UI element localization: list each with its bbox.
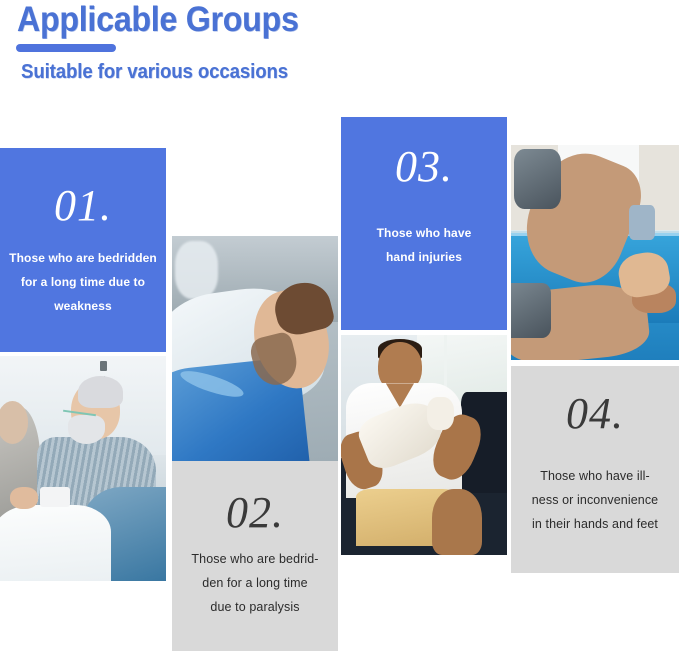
page-title: Applicable Groups xyxy=(17,1,299,39)
bed-blanket xyxy=(0,505,111,582)
card-03-number: 03. xyxy=(341,143,507,191)
patient-hair xyxy=(78,376,123,408)
denim-shorts-lower xyxy=(511,283,551,339)
card-03-panel: 03. Those who have hand injuries xyxy=(341,117,507,330)
iv-drip-icon xyxy=(100,361,107,371)
denim-shorts-upper xyxy=(514,149,561,209)
card-01-caption-line-1: Those who are bedridden xyxy=(0,246,166,270)
card-01-caption-line-2: for a long time due to xyxy=(0,270,166,294)
title-underline-rule xyxy=(16,44,116,52)
card-04-caption: Those who have ill- ness or inconvenienc… xyxy=(511,464,679,536)
card-03-photo xyxy=(341,335,507,555)
card-03-caption-line-2: hand injuries xyxy=(341,245,507,269)
card-01-caption-line-3: weakness xyxy=(0,294,166,318)
card-01-number: 01. xyxy=(0,182,166,230)
card-03-caption: Those who have hand injuries xyxy=(341,221,507,269)
card-03-caption-line-1: Those who have xyxy=(341,221,507,245)
knee xyxy=(432,489,482,555)
patient-beard xyxy=(68,415,105,444)
page-subtitle: Suitable for various occasions xyxy=(21,60,288,84)
card-04-photo xyxy=(511,145,679,360)
card-01-caption: Those who are bedridden for a long time … xyxy=(0,246,166,318)
card-02-caption-line-3: due to paralysis xyxy=(172,595,338,619)
bandaged-hand xyxy=(427,397,454,430)
card-02-caption-line-1: Those who are bedrid- xyxy=(172,547,338,571)
card-02-number: 02. xyxy=(172,489,338,537)
card-02-caption-line-2: den for a long time xyxy=(172,571,338,595)
card-02-panel: 02. Those who are bedrid- den for a long… xyxy=(172,461,338,651)
card-04-caption-line-3: in their hands and feet xyxy=(511,512,679,536)
card-02-caption: Those who are bedrid- den for a long tim… xyxy=(172,547,338,619)
card-04-caption-line-1: Those who have ill- xyxy=(511,464,679,488)
card-01-photo xyxy=(0,356,166,581)
card-02-photo xyxy=(172,236,338,461)
patient-hand xyxy=(10,487,38,510)
card-01-panel: 01. Those who are bedridden for a long t… xyxy=(0,148,166,352)
therapist-sleeve xyxy=(629,205,656,239)
card-04-number: 04. xyxy=(511,390,679,438)
card-04-panel: 04. Those who have ill- ness or inconven… xyxy=(511,366,679,573)
infographic-page: Applicable Groups Suitable for various o… xyxy=(0,0,679,669)
medical-device xyxy=(40,487,70,507)
background-blur xyxy=(175,241,218,300)
card-04-caption-line-2: ness or inconvenience xyxy=(511,488,679,512)
